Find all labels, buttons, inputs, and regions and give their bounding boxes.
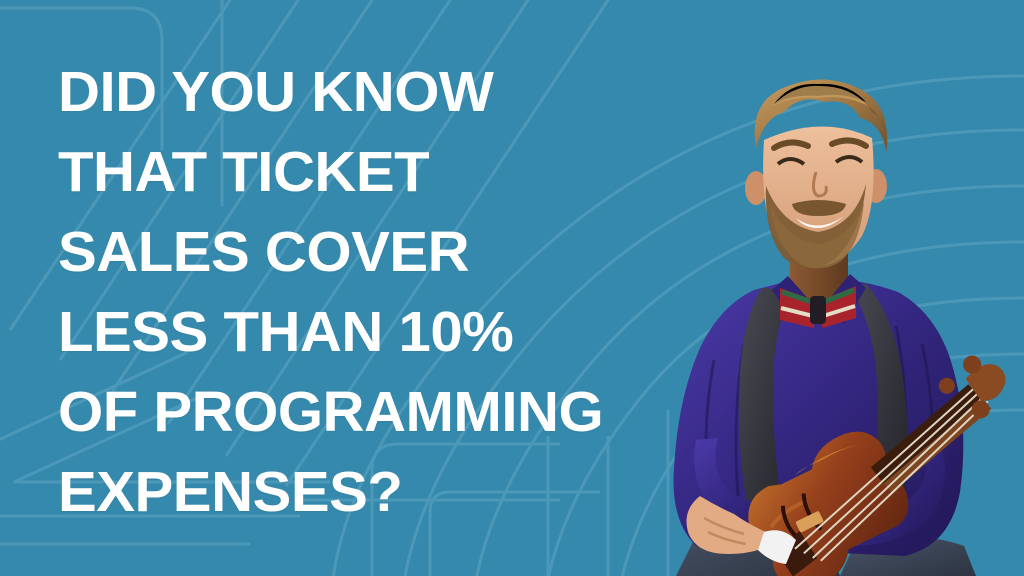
head	[745, 79, 887, 268]
headline-line-6: EXPENSES?	[58, 452, 690, 532]
headline-block: DID YOU KNOW THAT TICKET SALES COVER LES…	[58, 52, 678, 532]
headline-line-4: LESS THAN 10%	[58, 292, 690, 372]
headline-line-3: SALES COVER	[58, 212, 690, 292]
headline-line-5: OF PROGRAMMING	[58, 372, 690, 452]
headline-line-1: DID YOU KNOW	[58, 52, 690, 132]
headline-line-2: THAT TICKET	[58, 132, 690, 212]
social-graphic-slide: DID YOU KNOW THAT TICKET SALES COVER LES…	[0, 0, 1024, 576]
